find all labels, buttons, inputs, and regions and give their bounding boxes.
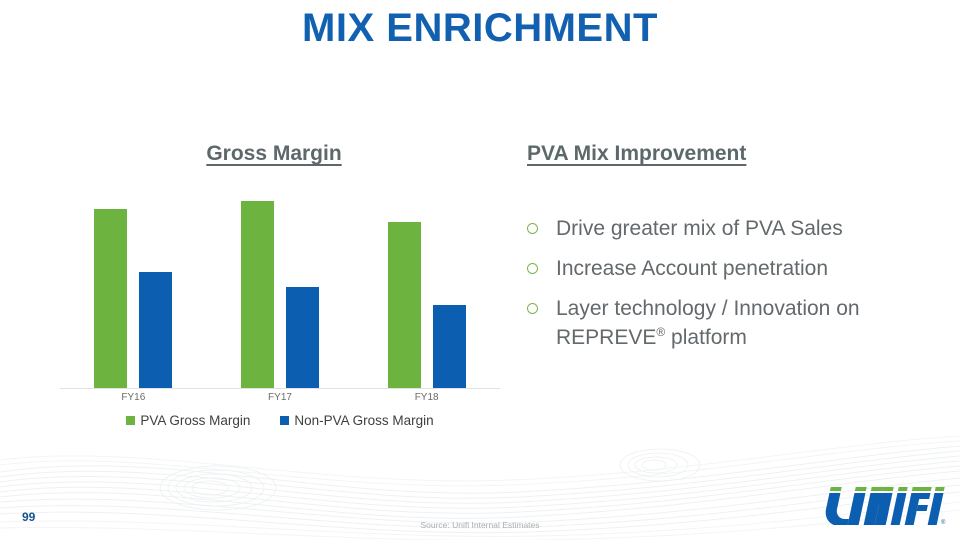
bullet-item: Increase Account penetration <box>527 254 947 283</box>
circle-bullet-icon <box>527 303 538 314</box>
chart-x-tick-label: FY18 <box>397 392 457 403</box>
legend-swatch-icon <box>126 416 135 425</box>
legend-label: PVA Gross Margin <box>140 413 250 428</box>
legend-item: Non-PVA Gross Margin <box>280 413 433 428</box>
circle-bullet-icon <box>527 223 538 234</box>
slide-canvas: MIX ENRICHMENT Gross Margin FY16FY17FY18… <box>0 0 960 540</box>
chart-plot-area <box>60 185 500 388</box>
bullet-list: Drive greater mix of PVA SalesIncrease A… <box>527 214 947 363</box>
bullet-text: Increase Account penetration <box>556 254 828 283</box>
legend-label: Non-PVA Gross Margin <box>294 413 433 428</box>
legend-item: PVA Gross Margin <box>126 413 250 428</box>
chart-legend: PVA Gross MarginNon-PVA Gross Margin <box>60 413 500 428</box>
chart-bar <box>139 272 172 388</box>
registered-mark-icon: ® <box>656 325 665 339</box>
gross-margin-heading: Gross Margin <box>0 142 548 166</box>
gross-margin-bar-chart: FY16FY17FY18 <box>60 185 500 395</box>
chart-x-axis-line <box>60 388 500 389</box>
chart-bar <box>433 305 466 388</box>
unifi-logo: ® <box>818 481 946 525</box>
chart-x-tick-label: FY17 <box>250 392 310 403</box>
bullet-item: Layer technology / Innovation on REPREVE… <box>527 294 947 352</box>
bullet-text: Drive greater mix of PVA Sales <box>556 214 843 243</box>
chart-bar <box>241 201 274 388</box>
circle-bullet-icon <box>527 263 538 274</box>
chart-bar <box>388 222 421 388</box>
pva-mix-improvement-heading: PVA Mix Improvement <box>527 142 746 166</box>
bullet-item: Drive greater mix of PVA Sales <box>527 214 947 243</box>
bullet-text: Layer technology / Innovation on REPREVE… <box>556 294 947 352</box>
legend-swatch-icon <box>280 416 289 425</box>
page-title: MIX ENRICHMENT <box>0 4 960 52</box>
source-note: Source: Unifi Internal Estimates <box>0 520 960 530</box>
chart-bar <box>94 209 127 388</box>
registered-mark-icon: ® <box>941 519 946 525</box>
chart-x-tick-label: FY16 <box>103 392 163 403</box>
chart-bar <box>286 287 319 389</box>
